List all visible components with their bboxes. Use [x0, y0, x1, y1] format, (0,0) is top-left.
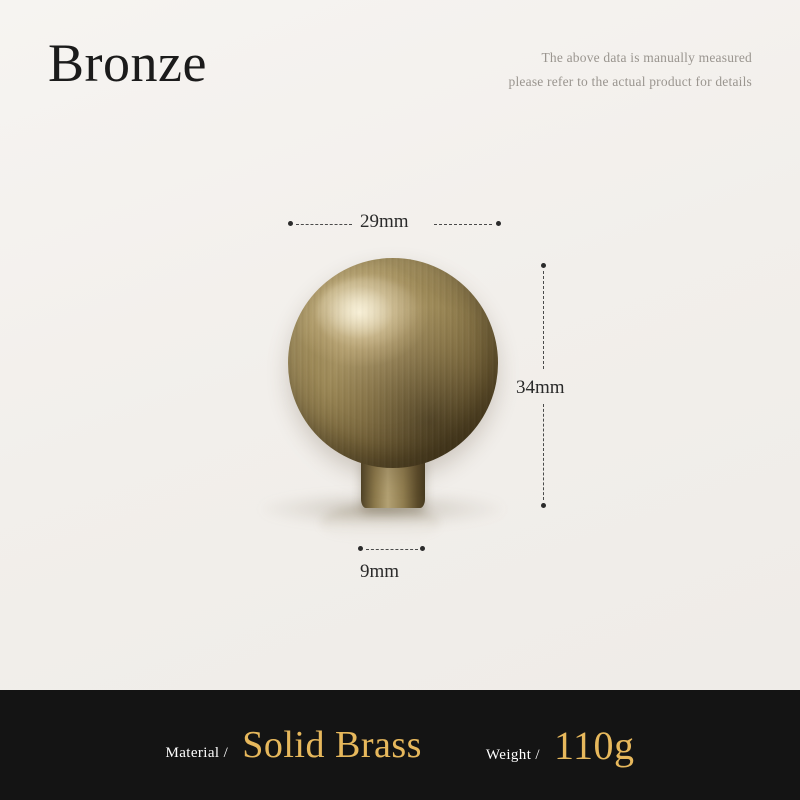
page-title: Bronze	[48, 34, 207, 93]
disclaimer-line-2: please refer to the actual product for d…	[509, 70, 752, 94]
height-dimension-line-bottom	[543, 404, 545, 500]
width-dimension-line-right	[434, 224, 492, 226]
weight-label: Weight /	[486, 747, 540, 764]
knob-rim-shading	[288, 258, 498, 468]
knob-neck	[361, 456, 425, 508]
base-dimension-line	[366, 549, 418, 551]
base-dimension-dot-left	[358, 546, 363, 551]
knob-ball	[288, 258, 498, 468]
knob-highlight	[317, 277, 418, 348]
width-dimension-dot-right	[496, 221, 501, 226]
height-dimension-line-top	[543, 271, 545, 369]
height-dimension-label: 34mm	[516, 377, 565, 399]
weight-spec: Weight / 110g	[486, 722, 635, 769]
material-spec: Material / Solid Brass	[165, 723, 421, 767]
weight-value: 110g	[554, 722, 635, 769]
brass-knob-graphic	[288, 258, 498, 513]
product-reflection	[320, 505, 440, 541]
knob-brushed-texture	[288, 258, 498, 468]
width-dimension-label: 29mm	[360, 211, 409, 233]
base-dimension-dot-right	[420, 546, 425, 551]
height-dimension-dot-top	[541, 263, 546, 268]
base-dimension-label: 9mm	[360, 561, 399, 583]
material-value: Solid Brass	[242, 723, 422, 767]
height-dimension-dot-bottom	[541, 503, 546, 508]
product-shadow	[262, 492, 502, 526]
width-dimension-dot-left	[288, 221, 293, 226]
knob-neck-shadow	[361, 451, 425, 463]
product-spec-page: Bronze The above data is manually measur…	[0, 0, 800, 800]
product-illustration	[0, 0, 800, 700]
width-dimension-line-left	[296, 224, 352, 226]
spec-footer-bar: Material / Solid Brass Weight / 110g	[0, 690, 800, 800]
measurement-disclaimer: The above data is manually measured plea…	[509, 46, 752, 93]
material-label: Material /	[165, 745, 228, 762]
disclaimer-line-1: The above data is manually measured	[509, 46, 752, 70]
